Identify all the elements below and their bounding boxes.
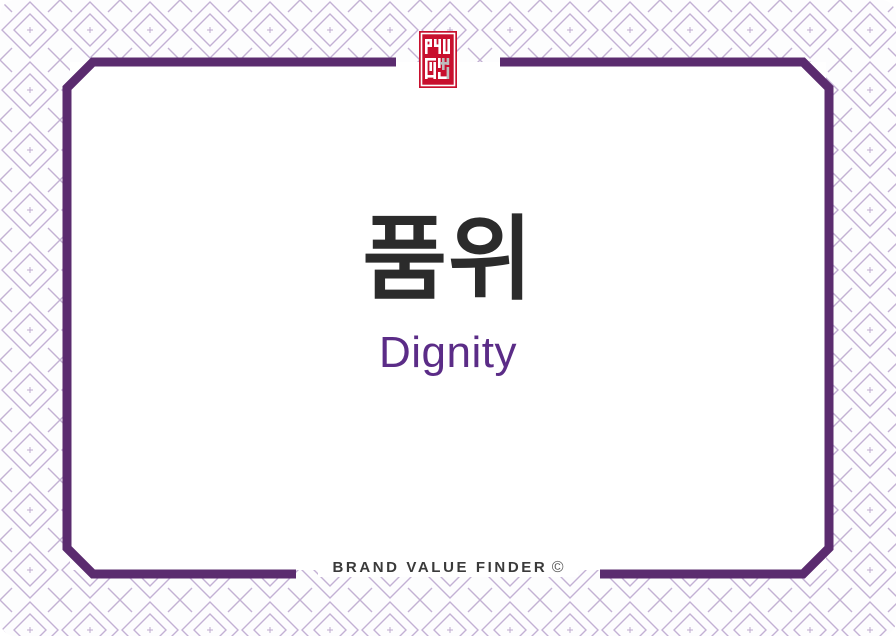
copyright-icon: ©	[547, 559, 563, 576]
term-english: Dignity	[379, 328, 517, 378]
inner-white-panel	[70, 62, 826, 570]
footer-brand-text: BRAND VALUE FINDER ©	[318, 559, 577, 577]
footer-label: BRAND VALUE FINDER	[332, 559, 547, 576]
paul-mark-seal-logo[interactable]	[419, 31, 457, 88]
term-korean: 품위	[362, 212, 533, 309]
brand-value-card: 품위 Dignity BRAND VALUE FINDER ©	[0, 0, 896, 636]
footer: BRAND VALUE FINDER ©	[0, 559, 896, 577]
